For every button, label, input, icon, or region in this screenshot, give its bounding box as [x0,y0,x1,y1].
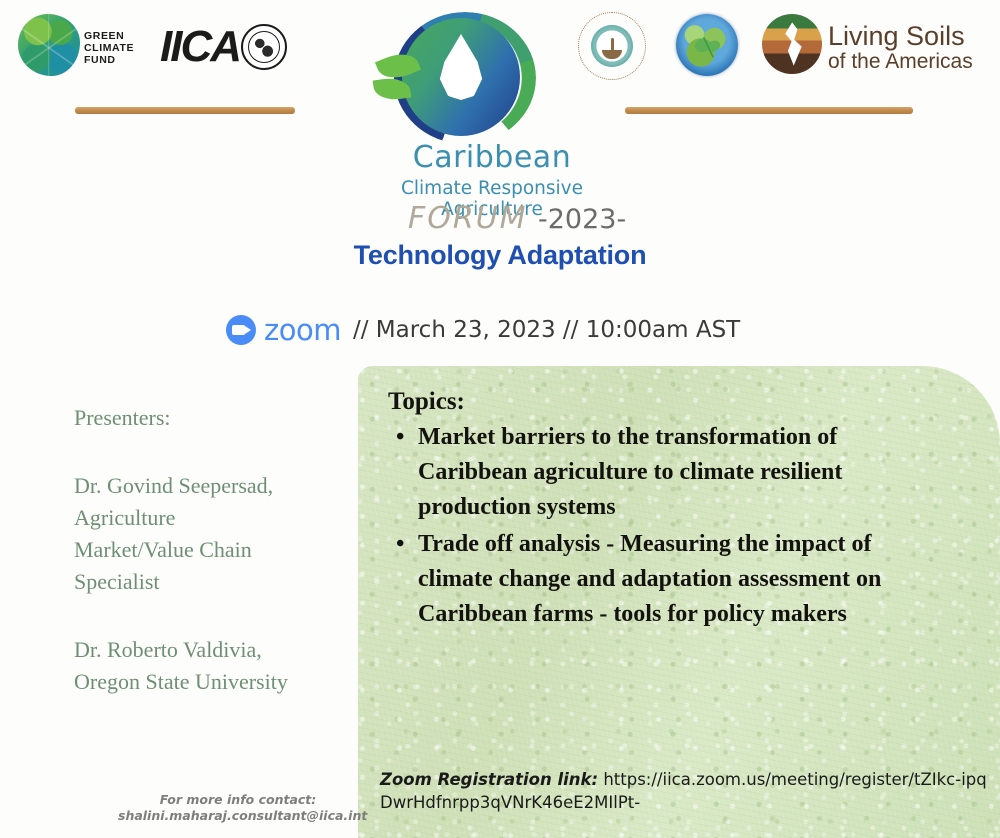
presenters-block: Presenters: Dr. Govind Seepersad, Agricu… [74,402,344,734]
living-soils-globe-icon [676,14,738,76]
living-soils-emblem-icon [762,14,822,74]
zoom-camera-icon [226,315,256,345]
topic-item: Trade off analysis - Measuring the impac… [418,527,928,632]
zoom-wordmark: zoom [264,313,341,347]
divider-right [625,107,913,114]
living-soils-subtitle: of the Americas [828,50,973,74]
presenter-1: Dr. Govind Seepersad, Agriculture Market… [74,470,344,598]
topics-block: Topics: Market barriers to the transform… [388,388,928,634]
forum-logo: Caribbean Climate Responsive Agriculture… [372,8,612,158]
green-climate-fund-label: GREEN CLIMATE FUND [84,30,134,66]
green-climate-fund-icon [18,14,80,76]
topics-list: Market barriers to the transformation of… [388,420,928,632]
living-soils-title: Living Soils [828,22,965,50]
forum-logo-year: -2023- [538,204,626,235]
topic-item: Market barriers to the transformation of… [418,420,928,525]
presenter-2: Dr. Roberto Valdivia, Oregon State Unive… [74,634,344,698]
forum-logo-name: Caribbean [372,140,612,175]
registration-line: Zoom Registration link: https://iica.zoo… [380,768,992,814]
iica-wordmark: IICA [160,22,240,72]
registration-label: Zoom Registration link: [380,770,598,789]
page-title: Technology Adaptation [0,240,1000,271]
divider-left [75,107,295,114]
event-platform-line: zoom // March 23, 2023 // 10:00am AST [226,312,740,348]
forum-logo-word: FORUM [408,201,528,236]
event-flyer: GREEN CLIMATE FUND IICA Living Soils of … [0,0,1000,838]
iica-globe-icon [241,24,287,70]
event-datetime: // March 23, 2023 // 10:00am AST [353,317,740,343]
topics-heading: Topics: [388,388,928,416]
contact-info: For more info contact: shalini.maharaj.c… [118,792,358,824]
presenters-heading: Presenters: [74,402,344,434]
